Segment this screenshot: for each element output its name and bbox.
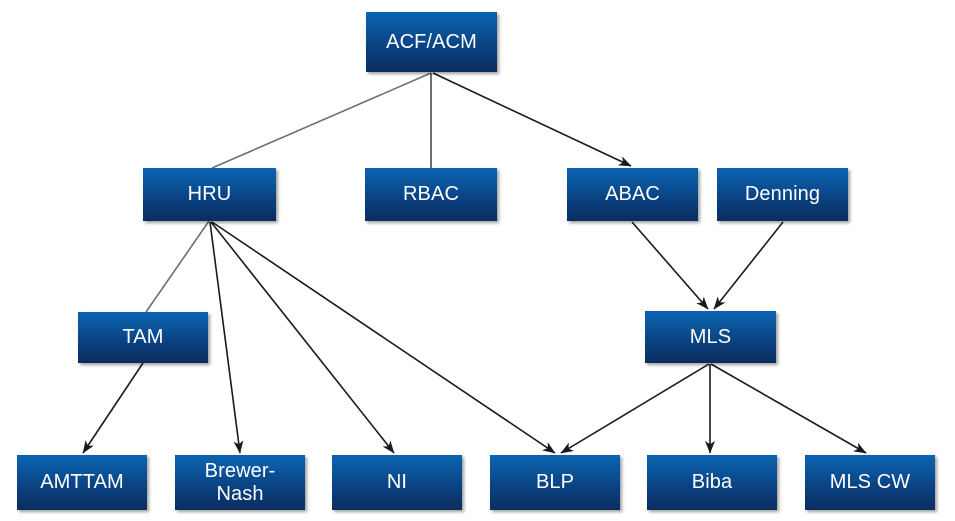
node-ni[interactable]: NI (332, 455, 462, 510)
node-label-rbac: RBAC (400, 183, 462, 205)
edge-hru-blp (212, 222, 555, 453)
node-label-denning: Denning (742, 183, 823, 205)
node-brewer_nash[interactable]: Brewer- Nash (175, 455, 305, 510)
node-amttam[interactable]: AMTTAM (17, 455, 147, 510)
node-label-blp: BLP (533, 471, 577, 493)
edge-tam-amttam (83, 363, 143, 453)
node-tam[interactable]: TAM (78, 312, 208, 363)
node-label-hru: HRU (185, 183, 235, 205)
node-label-tam: TAM (119, 326, 166, 348)
node-acf_acm[interactable]: ACF/ACM (366, 12, 497, 72)
node-mls_cw[interactable]: MLS CW (805, 455, 935, 510)
node-label-brewer_nash: Brewer- Nash (202, 460, 279, 505)
edge-acf-abac (433, 73, 631, 166)
edge-hru-brewer (210, 222, 240, 453)
edge-abac-mls (632, 222, 708, 309)
node-blp[interactable]: BLP (490, 455, 620, 510)
edge-hru-ni (211, 222, 394, 453)
node-hru[interactable]: HRU (143, 168, 276, 221)
node-label-mls_cw: MLS CW (827, 471, 914, 493)
node-rbac[interactable]: RBAC (365, 168, 497, 221)
diagram-canvas: ACF/ACMHRURBACABACDenningTAMMLSAMTTAMBre… (0, 0, 955, 521)
edge-acf-hru (212, 73, 431, 168)
node-mls[interactable]: MLS (645, 311, 776, 363)
node-denning[interactable]: Denning (717, 168, 848, 221)
edge-hru-tam (146, 221, 209, 312)
diagram-edges-layer (0, 0, 955, 521)
edge-mls-blp (561, 364, 709, 453)
node-abac[interactable]: ABAC (567, 168, 698, 221)
node-biba[interactable]: Biba (647, 455, 777, 510)
node-label-abac: ABAC (602, 183, 663, 205)
node-label-ni: NI (384, 471, 410, 493)
edge-mls-mlscw (711, 364, 866, 453)
node-label-mls: MLS (687, 326, 734, 348)
node-label-acf_acm: ACF/ACM (383, 31, 480, 53)
edge-denning-mls (714, 222, 783, 309)
node-label-biba: Biba (689, 471, 735, 493)
node-label-amttam: AMTTAM (37, 471, 127, 493)
